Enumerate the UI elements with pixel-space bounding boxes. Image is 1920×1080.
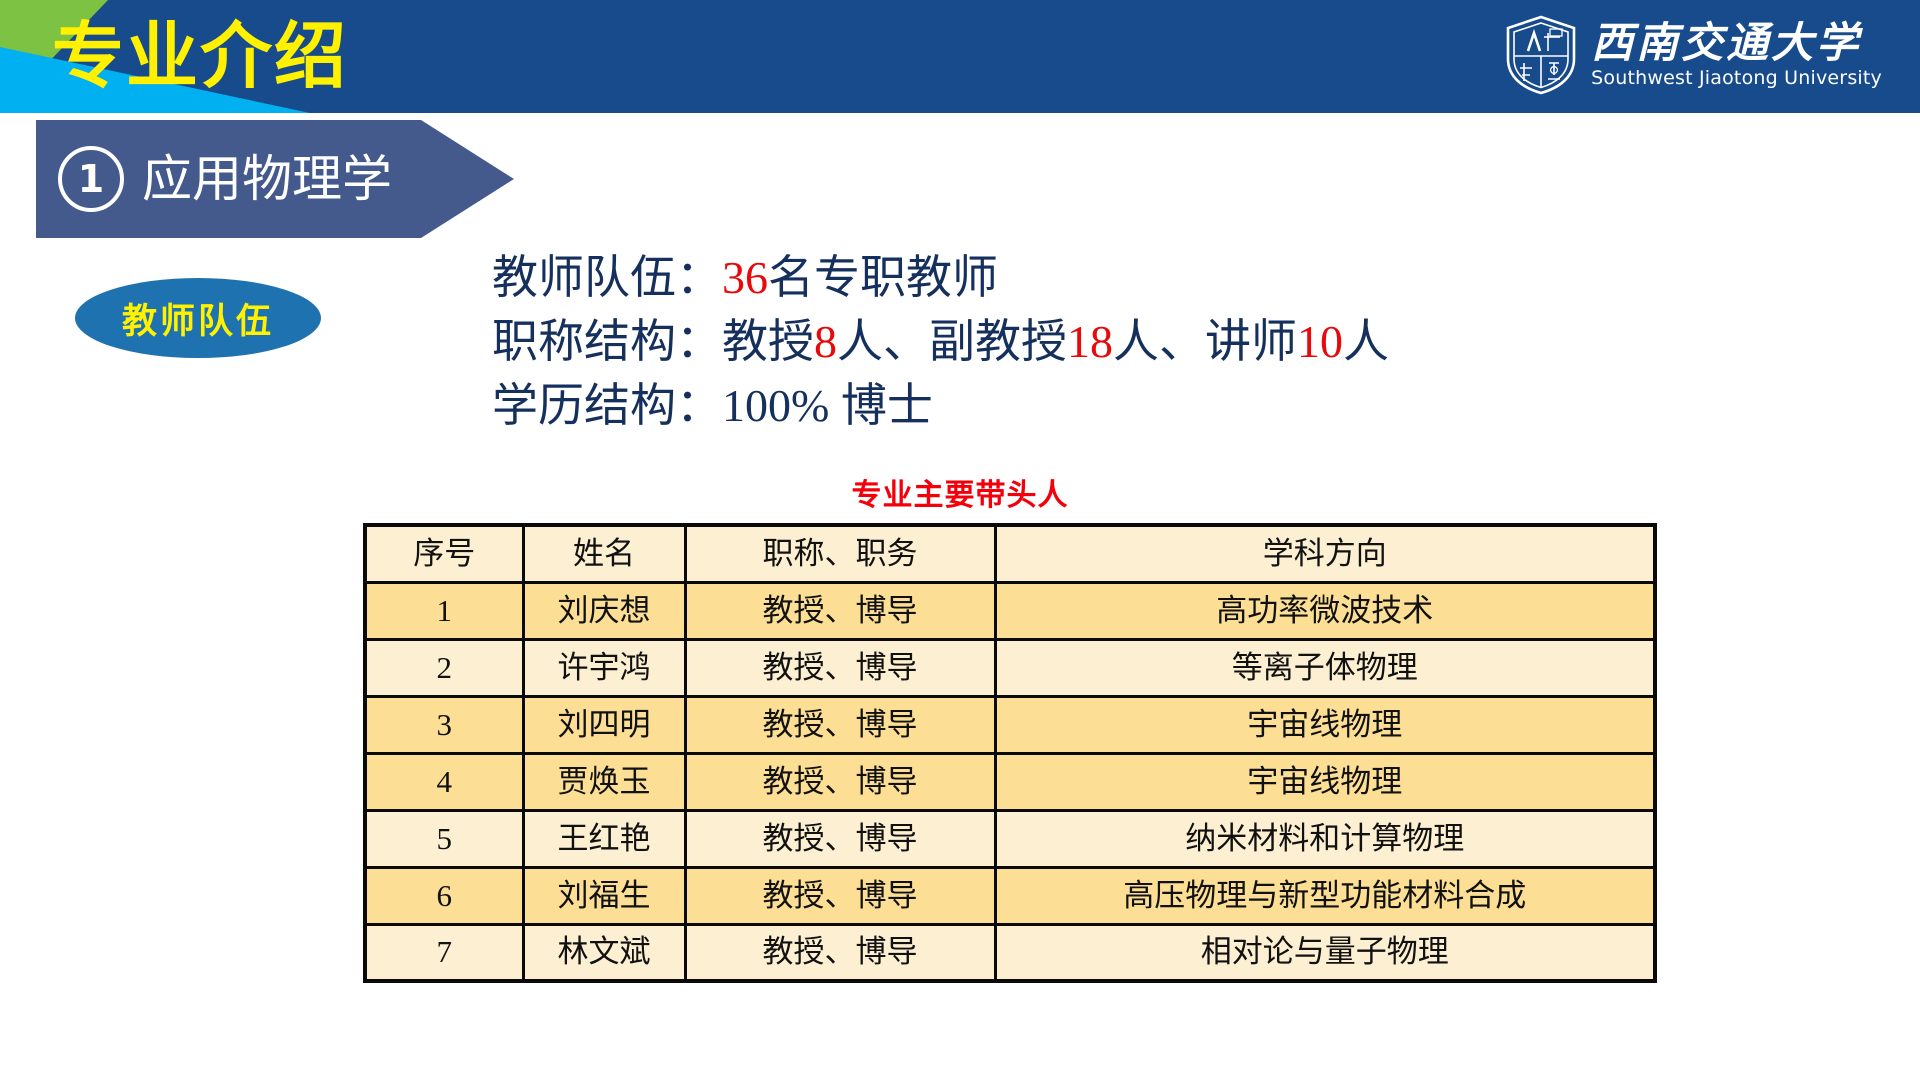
cell-name: 贾焕玉 (523, 753, 685, 810)
info-line-1-rest: 名专职教师 (768, 252, 998, 303)
cell-field: 宇宙线物理 (995, 696, 1655, 753)
table-title: 专业主要带头人 (0, 477, 1920, 515)
faculty-badge-label: 教师队伍 (122, 293, 274, 344)
cell-name: 林文斌 (523, 924, 685, 981)
cell-name: 王红艳 (523, 810, 685, 867)
table-body: 1刘庆想教授、博导高功率微波技术2许宇鸿教授、博导等离子体物理3刘四明教授、博导… (365, 582, 1655, 981)
info-line-2-text-a: 教授 (722, 316, 814, 367)
info-line-3-rest: 100% 博士 (722, 380, 933, 431)
cell-no: 3 (365, 696, 523, 753)
program-leaders-table: 序号 姓名 职称、职务 学科方向 1刘庆想教授、博导高功率微波技术2许宇鸿教授、… (363, 523, 1657, 983)
cell-field: 高压物理与新型功能材料合成 (995, 867, 1655, 924)
cell-rank: 教授、博导 (685, 924, 995, 981)
cell-no: 7 (365, 924, 523, 981)
cell-rank: 教授、博导 (685, 810, 995, 867)
info-line-2-lecturer-count: 10 (1297, 316, 1343, 367)
column-header-name: 姓名 (523, 525, 685, 582)
table-header-row: 序号 姓名 职称、职务 学科方向 (365, 525, 1655, 582)
cell-no: 4 (365, 753, 523, 810)
table-row: 5王红艳教授、博导纳米材料和计算物理 (365, 810, 1655, 867)
table-row: 7林文斌教授、博导相对论与量子物理 (365, 924, 1655, 981)
cell-rank: 教授、博导 (685, 696, 995, 753)
faculty-info-line-1: 教师队伍：36名专职教师 (492, 246, 1389, 310)
faculty-info-line-2: 职称结构：教授8人、副教授18人、讲师10人 (492, 310, 1389, 374)
faculty-info-block: 教师队伍：36名专职教师 职称结构：教授8人、副教授18人、讲师10人 学历结构… (492, 246, 1389, 438)
faculty-info-line-3: 学历结构：100% 博士 (492, 374, 1389, 438)
cell-field: 高功率微波技术 (995, 582, 1655, 639)
cell-rank: 教授、博导 (685, 582, 995, 639)
faculty-badge: 教师队伍 (75, 278, 321, 358)
cell-rank: 教授、博导 (685, 753, 995, 810)
info-line-3-label: 学历结构： (492, 380, 722, 431)
university-logo: 西南交通大学 Southwest Jiaotong University (1504, 11, 1882, 99)
info-line-2-professor-count: 8 (814, 316, 837, 367)
table-row: 3刘四明教授、博导宇宙线物理 (365, 696, 1655, 753)
cell-name: 刘福生 (523, 867, 685, 924)
info-line-2-text-b: 人、副教授 (837, 316, 1067, 367)
cell-rank: 教授、博导 (685, 639, 995, 696)
info-line-1-label: 教师队伍： (492, 252, 722, 303)
info-line-1-count: 36 (722, 252, 768, 303)
column-header-rank: 职称、职务 (685, 525, 995, 582)
table-row: 1刘庆想教授、博导高功率微波技术 (365, 582, 1655, 639)
table-row: 6刘福生教授、博导高压物理与新型功能材料合成 (365, 867, 1655, 924)
table-row: 4贾焕玉教授、博导宇宙线物理 (365, 753, 1655, 810)
cell-field: 等离子体物理 (995, 639, 1655, 696)
section-banner: 1 应用物理学 (36, 120, 514, 238)
section-title: 应用物理学 (142, 151, 392, 207)
cell-name: 许宇鸿 (523, 639, 685, 696)
university-name-en: Southwest Jiaotong University (1591, 67, 1882, 90)
info-line-2-text-c: 人、讲师 (1113, 316, 1297, 367)
cell-name: 刘四明 (523, 696, 685, 753)
cell-no: 2 (365, 639, 523, 696)
slide-header: 专业介绍 西南交通大学 Southwest Jiaotong Universit… (0, 0, 1920, 113)
column-header-no: 序号 (365, 525, 523, 582)
page-title: 专业介绍 (52, 6, 348, 106)
cell-no: 5 (365, 810, 523, 867)
section-number-badge: 1 (58, 146, 124, 212)
info-line-2-text-d: 人 (1343, 316, 1389, 367)
cell-no: 6 (365, 867, 523, 924)
cell-rank: 教授、博导 (685, 867, 995, 924)
cell-field: 纳米材料和计算物理 (995, 810, 1655, 867)
cell-no: 1 (365, 582, 523, 639)
info-line-2-assoc-professor-count: 18 (1067, 316, 1113, 367)
university-shield-icon (1504, 15, 1578, 95)
column-header-field: 学科方向 (995, 525, 1655, 582)
info-line-2-label: 职称结构： (492, 316, 722, 367)
cell-field: 相对论与量子物理 (995, 924, 1655, 981)
university-name-cn: 西南交通大学 (1591, 21, 1882, 67)
table-row: 2许宇鸿教授、博导等离子体物理 (365, 639, 1655, 696)
cell-field: 宇宙线物理 (995, 753, 1655, 810)
cell-name: 刘庆想 (523, 582, 685, 639)
